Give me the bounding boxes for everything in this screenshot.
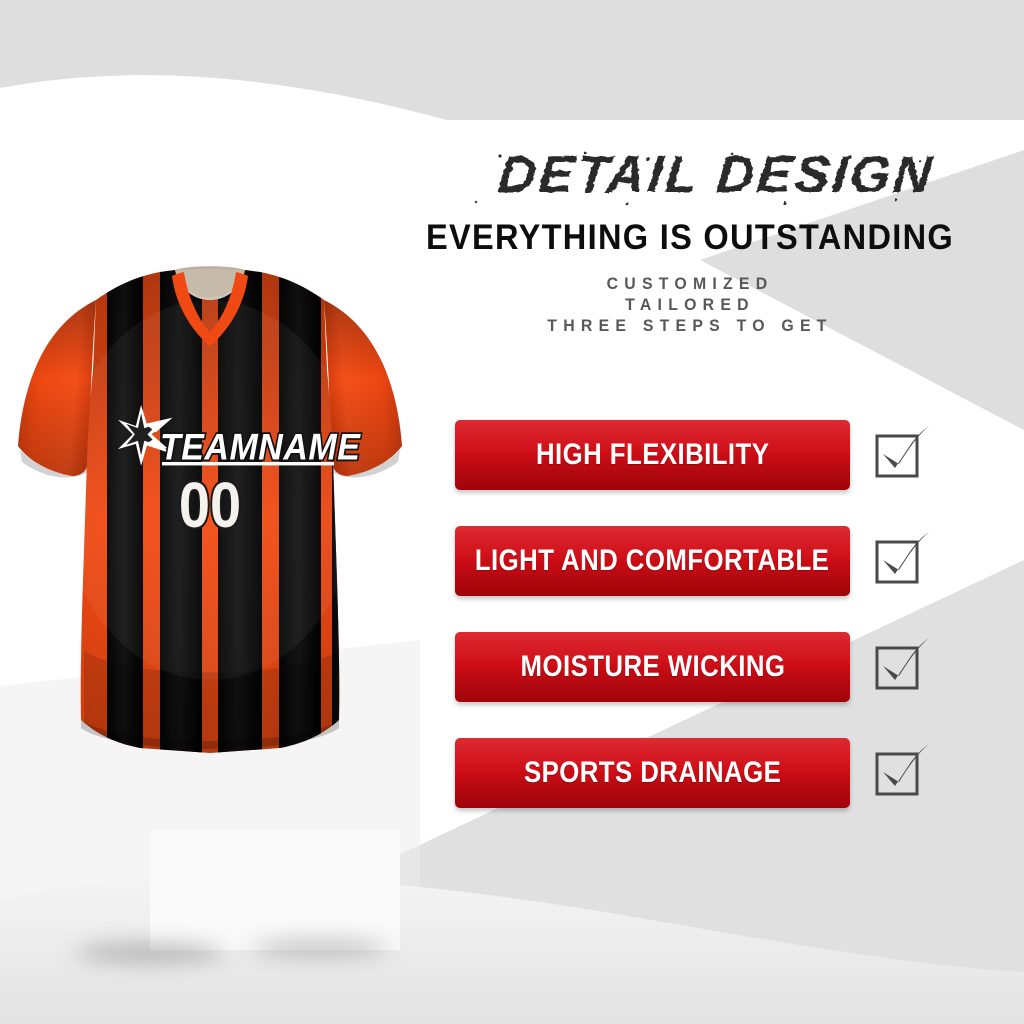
- feature-label: SPORTS DRAINAGE: [524, 756, 781, 790]
- soccer-jersey-mockup: TEAMNAME 00: [0, 250, 420, 850]
- feature-banner-sports-drainage[interactable]: SPORTS DRAINAGE: [455, 738, 850, 808]
- jersey-shadow-left: [75, 945, 225, 961]
- feature-row: LIGHT AND COMFORTABLE: [455, 526, 955, 596]
- left-sleeve-shading: [18, 300, 96, 476]
- jersey-team-name: TEAMNAME: [160, 427, 361, 467]
- subline-group: CUSTOMIZED TAILORED THREE STEPS TO GET: [380, 274, 1000, 337]
- feature-banner-high-flexibility[interactable]: HIGH FLEXIBILITY: [455, 420, 850, 490]
- feature-row: MOISTURE WICKING: [455, 632, 955, 702]
- checkbox-checked-icon[interactable]: [871, 422, 931, 484]
- marketing-copy-block: DETAIL DESIGN EVERYTHING IS OUTSTANDING …: [380, 140, 1000, 337]
- subline-three-steps: THREE STEPS TO GET: [392, 316, 987, 337]
- feature-banner-moisture-wicking[interactable]: MOISTURE WICKING: [455, 632, 850, 702]
- headline-text: EVERYTHING IS OUTSTANDING: [402, 218, 979, 258]
- feature-label: MOISTURE WICKING: [520, 650, 785, 684]
- checkbox-checked-icon[interactable]: [871, 740, 931, 802]
- feature-row: SPORTS DRAINAGE: [455, 738, 955, 808]
- feature-banner-light-and-comfortable[interactable]: LIGHT AND COMFORTABLE: [455, 526, 850, 596]
- feature-label: LIGHT AND COMFORTABLE: [475, 544, 829, 578]
- brush-title-text: DETAIL DESIGN: [495, 146, 937, 204]
- subline-customized: CUSTOMIZED: [392, 274, 987, 295]
- checkbox-checked-icon[interactable]: [871, 528, 931, 590]
- feature-row: HIGH FLEXIBILITY: [455, 420, 955, 490]
- product-image-panel: TEAMNAME 00: [0, 250, 420, 850]
- jersey-player-number: 00: [179, 470, 241, 541]
- product-detail-graphic: TEAMNAME 00: [0, 0, 1024, 1024]
- title-block: DETAIL DESIGN EVERYTHING IS OUTSTANDING …: [380, 140, 1000, 337]
- jersey-shadow-right: [250, 941, 390, 955]
- jersey-print-underline: [162, 462, 334, 465]
- checkbox-checked-icon[interactable]: [871, 634, 931, 696]
- subline-tailored: TAILORED: [392, 295, 987, 316]
- brush-title-graphic: DETAIL DESIGN: [380, 140, 1000, 212]
- feature-label: HIGH FLEXIBILITY: [536, 438, 769, 472]
- feature-list: HIGH FLEXIBILITY LIGHT AND COMFORTABLE M…: [455, 420, 955, 844]
